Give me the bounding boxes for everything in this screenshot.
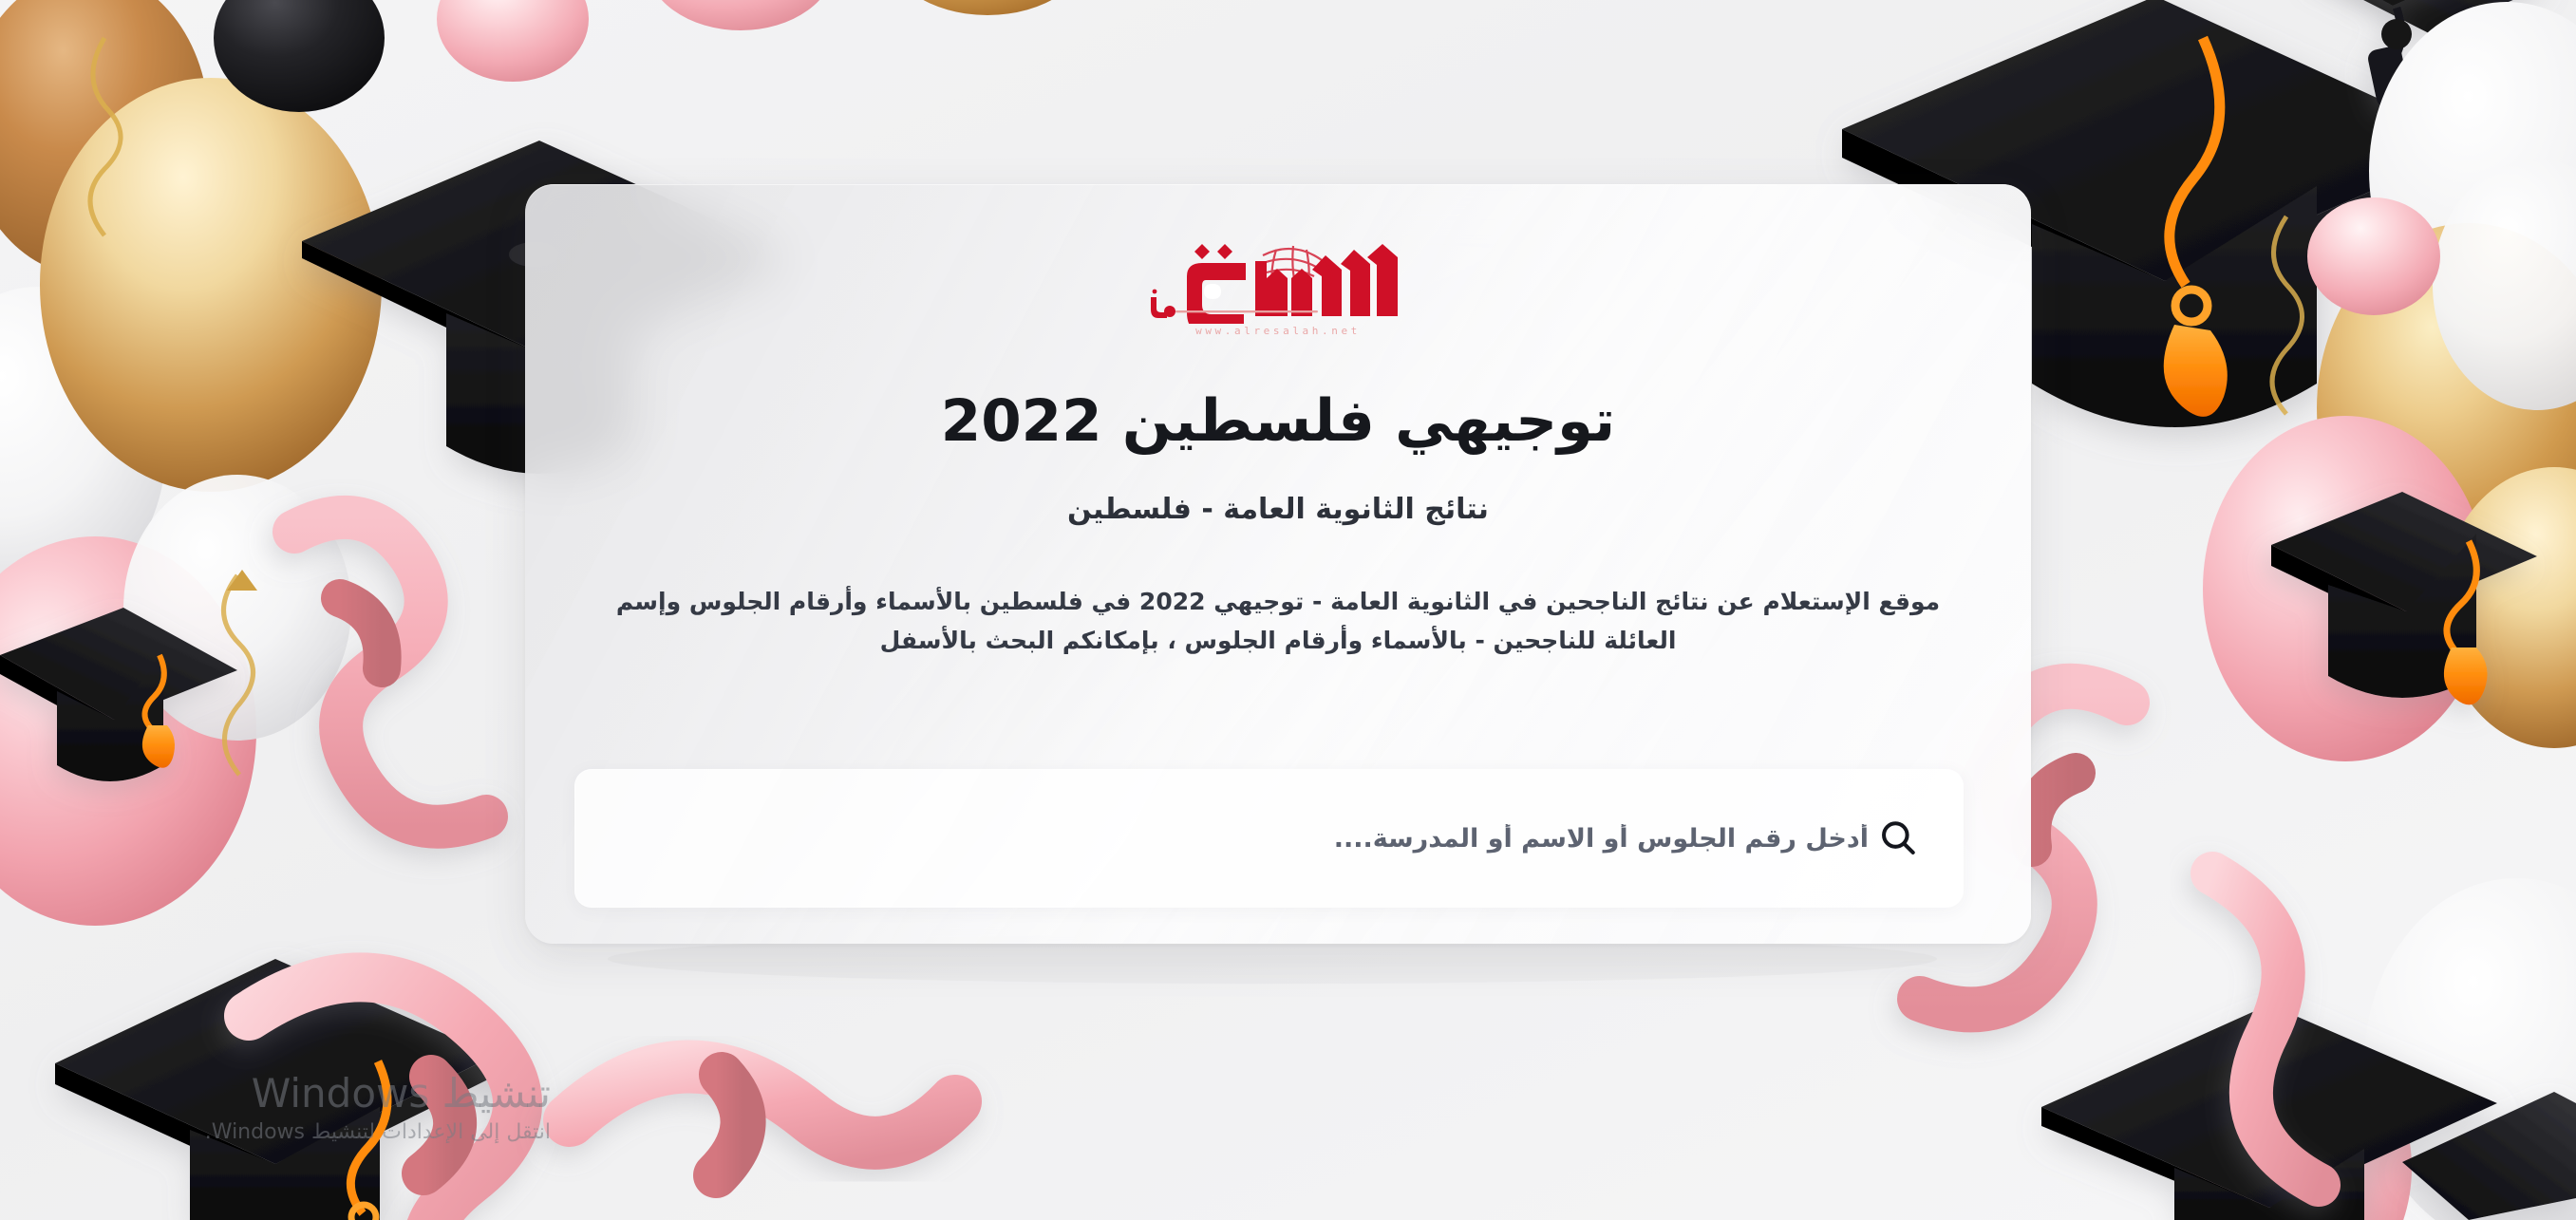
search-icon[interactable] <box>1876 816 1920 860</box>
search-bar[interactable] <box>574 769 1964 908</box>
brand-logo: www.alresalah.net <box>525 236 2031 337</box>
search-input[interactable] <box>618 824 1876 854</box>
page-description: موقع الإستعلام عن نتائج الناجحين في الثا… <box>582 583 1974 660</box>
page-subtitle: نتائج الثانوية العامة - فلسطين <box>525 493 2031 526</box>
hero-card: www.alresalah.net توجيهي فلسطين 2022 نتا… <box>525 184 2031 944</box>
logo-url-text: www.alresalah.net <box>1195 325 1361 337</box>
page-title: توجيهي فلسطين 2022 <box>525 389 2031 453</box>
al-resalah-logo-icon <box>1149 236 1407 324</box>
description-line-2: للناجحين - بالأسماء وأرقام الجلوس ، بإمك… <box>880 627 1596 654</box>
page-root: www.alresalah.net توجيهي فلسطين 2022 نتا… <box>0 0 2576 1220</box>
